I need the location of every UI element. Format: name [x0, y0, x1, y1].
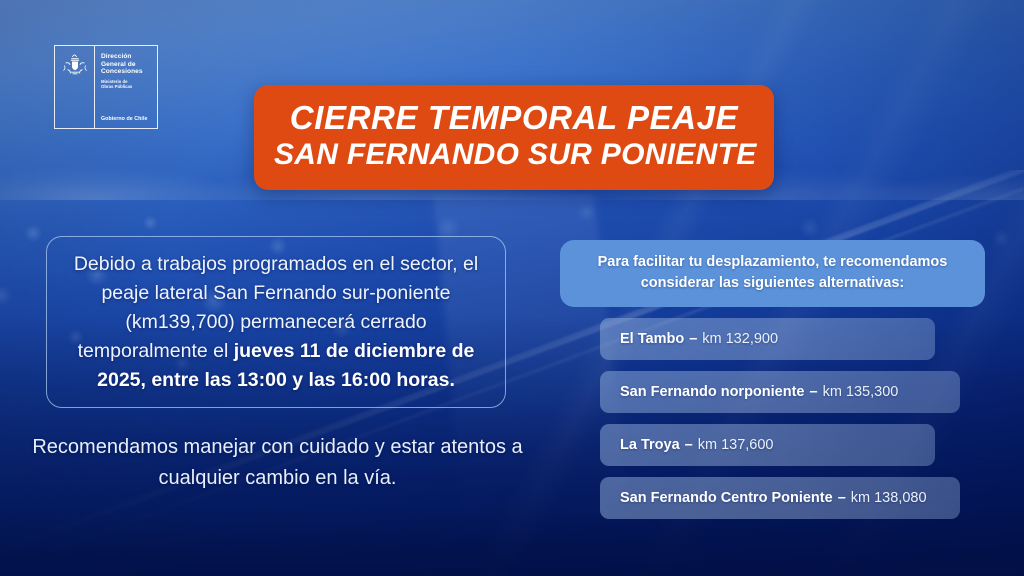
alternative-km: km 132,900	[702, 331, 778, 347]
logo-name-line-2: General de	[101, 61, 152, 69]
title-sub: SAN FERNANDO SUR PONIENTE	[274, 137, 754, 173]
logo-name-line-3: Concesiones	[101, 68, 152, 76]
chile-coat-of-arms-icon	[62, 54, 88, 76]
closure-info-box: Debido a trabajos programados en el sect…	[46, 236, 506, 408]
alternative-name: San Fernando Centro Poniente	[620, 490, 833, 506]
title-banner: CIERRE TEMPORAL PEAJE SAN FERNANDO SUR P…	[254, 85, 774, 190]
alternative-km: km 135,300	[823, 384, 899, 400]
logo-government: Gobierno de Chile	[101, 116, 147, 122]
safety-note: Recomendamos manejar con cuidado y estar…	[30, 432, 525, 494]
alternatives-list: El Tambo – km 132,900 San Fernando norpo…	[600, 318, 960, 530]
alternative-separator: –	[838, 490, 846, 506]
logo-name-line-1: Dirección	[101, 53, 152, 61]
alternative-separator: –	[685, 437, 693, 453]
alternatives-header-line-1: Para facilitar tu desplazamiento, te rec…	[584, 252, 961, 273]
alternative-name: El Tambo	[620, 331, 684, 347]
alternative-separator: –	[689, 331, 697, 347]
alternatives-header: Para facilitar tu desplazamiento, te rec…	[560, 240, 985, 307]
alternative-km: km 137,600	[698, 437, 774, 453]
closure-info-text: Debido a trabajos programados en el sect…	[69, 250, 483, 395]
list-item: San Fernando Centro Poniente – km 138,08…	[600, 477, 960, 519]
logo-crest-column	[55, 46, 95, 128]
logo-ministry: Ministerio de Obras Públicas	[101, 79, 152, 89]
alternative-separator: –	[809, 384, 817, 400]
alternatives-header-line-2: considerar las siguientes alternativas:	[584, 273, 961, 294]
list-item: San Fernando norponiente – km 135,300	[600, 371, 960, 413]
title-main: CIERRE TEMPORAL PEAJE	[274, 99, 754, 137]
logo-text-column: Dirección General de Concesiones Ministe…	[95, 46, 157, 128]
announcement-poster: Dirección General de Concesiones Ministe…	[0, 0, 1024, 576]
alternative-km: km 138,080	[851, 490, 927, 506]
alternative-name: San Fernando norponiente	[620, 384, 804, 400]
alternative-name: La Troya	[620, 437, 680, 453]
list-item: La Troya – km 137,600	[600, 424, 935, 466]
list-item: El Tambo – km 132,900	[600, 318, 935, 360]
logo-name: Dirección General de Concesiones	[101, 53, 152, 76]
logo-ministry-line-2: Obras Públicas	[101, 84, 152, 89]
institution-logo: Dirección General de Concesiones Ministe…	[54, 45, 158, 129]
